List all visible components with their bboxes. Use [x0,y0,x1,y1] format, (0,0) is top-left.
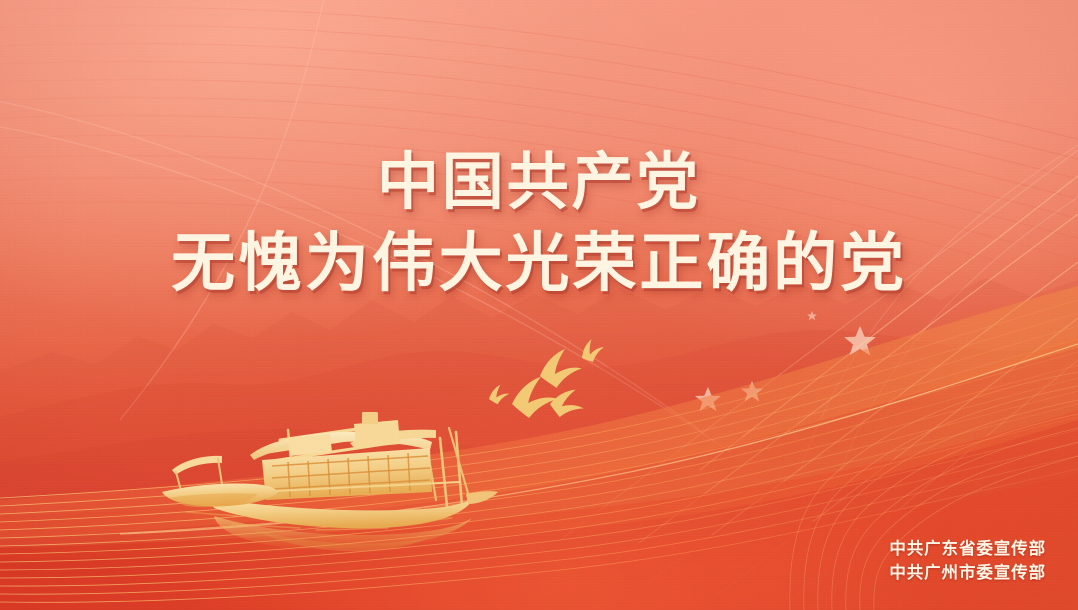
sparkle-icon [807,311,817,320]
red-boat-illustration [0,0,1078,610]
waves-layer [0,0,1078,610]
vignette-overlay [0,0,1078,610]
boat-group-main [162,412,498,551]
canopy-posts [176,459,222,494]
small-canopy-boat [162,456,278,507]
attribution-line-1: 中共广东省委宣传部 [889,538,1046,562]
boat-upper-cabin-left [288,434,332,456]
boat-water-reflection [186,512,472,551]
boat-rear-poles [428,428,470,500]
canopy-boat-shadow [168,493,258,507]
bird-icon [576,336,607,366]
canopy-boat-hull [162,483,278,506]
boat-window-lattice [272,453,430,497]
boat-cabin-body [262,448,432,500]
background-glow-bottom [0,0,1078,610]
attribution-block: 中共广东省委宣传部 中共广州市委宣传部 [889,538,1046,586]
mountains-layer [0,0,1078,610]
title-line-2: 无愧为伟大光荣正确的党 [0,229,1078,298]
birds-layer [0,0,1078,610]
halftone-texture [0,0,1078,610]
boat-chimney [362,412,378,424]
boat-masts [288,430,462,506]
poster-canvas: 中国共产党 无愧为伟大光荣正确的党 中共广东省委宣传部 中共广州市委宣传部 [0,0,1078,610]
bird-icon [486,383,511,406]
star-icon [695,387,721,411]
boat-upper-cabin-right [354,420,400,448]
boat-hull [206,496,474,528]
light-rays-layer [0,0,1078,610]
bird-icon [509,375,560,420]
canopy-roof [172,456,222,475]
grain-texture [0,0,1078,610]
boat-bow [466,491,498,504]
attribution-line-2: 中共广州市委宣传部 [889,562,1046,586]
flying-birds-group [486,336,608,420]
boat-rigging-spars [268,424,404,461]
wave-band-1 [0,286,1078,540]
wave-highlight-ridge [120,344,1078,534]
star-icon [741,381,763,401]
boat-upper-roof [250,431,432,460]
boat-deck-rail [214,482,460,494]
background-glow-upper-right [0,0,1078,610]
poster-title-block: 中国共产党 无愧为伟大光荣正确的党 [0,150,1078,298]
stars-layer [0,0,1078,610]
star-icon [844,326,876,356]
title-line-1: 中国共产党 [0,150,1078,217]
bird-icon [536,346,585,390]
wave-band-2 [0,338,1078,560]
background-glow-upper-left [0,0,1078,610]
bird-icon [549,387,586,419]
arc-lines-layer [0,0,1078,610]
boat-rear-roof [350,430,436,450]
